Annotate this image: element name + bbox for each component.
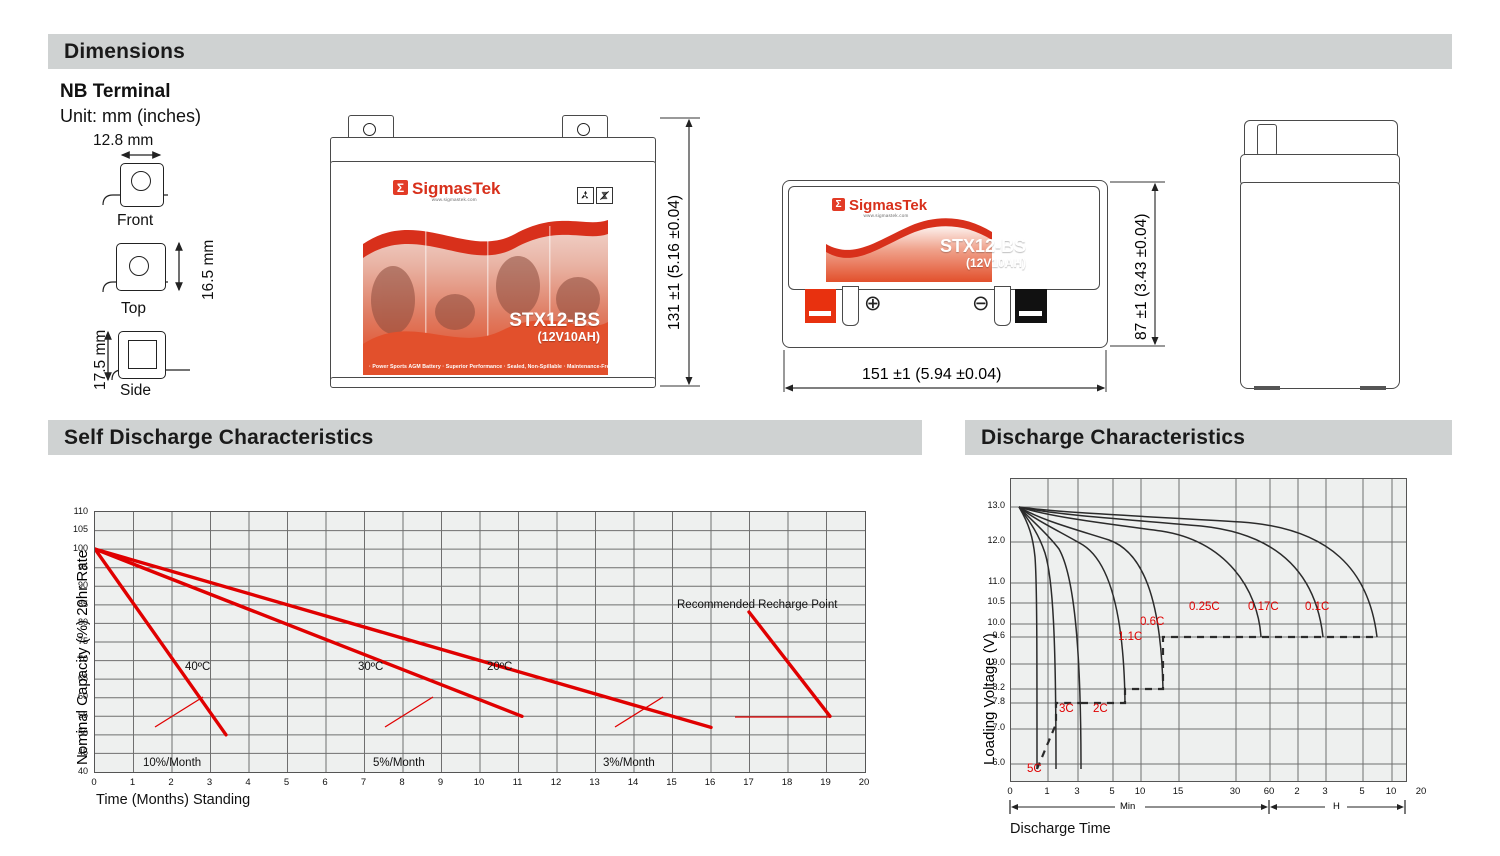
discharge-header-label: Discharge Characteristics [965,426,1245,450]
sd-xtick-19: 19 [816,777,836,788]
dc-xtick-15: 15 [1170,786,1186,797]
discharge-x-axis-title: Discharge Time [1010,821,1111,837]
dc-xtick-1: 1 [1039,786,1055,797]
dc-xtick-h2: 2 [1289,786,1305,797]
dc-ytick-6-0: 6.0 [965,757,1005,767]
profile-foot-right [1360,386,1386,390]
discharge-label-0-25c: 0.25C [1189,601,1220,613]
self-discharge-annotation-3pct: 3%/Month [603,757,655,769]
negative-polarity-icon: ⊖ [972,293,990,314]
recycle-glyph [580,190,591,201]
discharge-label-0-1c: 0.1C [1305,601,1329,613]
battery-model-front: STX12-BS [509,310,600,332]
self-discharge-header-label: Self Discharge Characteristics [48,426,373,450]
dc-ytick-10-5: 10.5 [965,596,1005,606]
sd-ytick-75: 75 [48,636,88,646]
dc-ytick-7-0: 7.0 [965,722,1005,732]
dc-ytick-9-6: 9.6 [965,630,1005,640]
sd-xtick-17: 17 [739,777,759,788]
dc-ytick-7-8: 7.8 [965,696,1005,706]
terminal-side-inner [128,340,157,369]
sd-xtick-15: 15 [662,777,682,788]
sd-ytick-95: 95 [48,562,88,572]
profile-foot-left [1254,386,1280,390]
sd-xtick-4: 4 [238,777,258,788]
sd-xtick-5: 5 [277,777,297,788]
battery-profile-view [1240,120,1400,395]
positive-post [842,286,859,326]
terminal-side-height-label: 17.5 mm [92,330,110,390]
positive-terminal-slot [809,311,831,316]
negative-post [994,286,1011,326]
sd-ytick-105: 105 [48,524,88,534]
sd-ytick-100: 100 [48,543,88,553]
brand-name: SigmasTek [412,180,501,197]
sd-xtick-11: 11 [508,777,528,788]
sd-ytick-65: 65 [48,673,88,683]
brand-logo: Σ SigmasTek www.sigmastek.com [393,180,501,202]
battery-lid-right-hole [577,123,590,136]
self-discharge-section-header: Self Discharge Characteristics [48,420,922,455]
discharge-label-0-6c: 0.6C [1140,616,1164,628]
sd-xtick-6: 6 [315,777,335,788]
unit-label: Unit: mm (inches) [60,106,201,127]
discharge-label-3c: 3C [1059,703,1074,715]
side-height-value: 87 ±1 (3.43 ±0.04) [1133,214,1151,340]
discharge-label-0-17c: 0.17C [1248,601,1279,613]
battery-front-view: Σ SigmasTek www.sigmastek.com [330,115,660,395]
sd-ytick-70: 70 [48,654,88,664]
sd-xtick-16: 16 [700,777,720,788]
recycle-icon [577,187,594,204]
discharge-svg [1011,479,1406,781]
recommended-recharge-point-label: Recommended Recharge Point [677,599,837,611]
discharge-chart: Loading Voltage (V) [965,470,1452,850]
terminal-front-label: Front [117,212,153,230]
discharge-section-header: Discharge Characteristics [965,420,1452,455]
sd-xtick-18: 18 [777,777,797,788]
battery-model-side: STX12-BS [940,236,1026,257]
dc-xtick-h10: 10 [1383,786,1399,797]
sd-xtick-12: 12 [546,777,566,788]
discharge-span-minutes-label: Min [1120,801,1135,812]
sd-xtick-9: 9 [431,777,451,788]
battery-front-label: Σ SigmasTek www.sigmastek.com [363,172,608,375]
terminal-top-hole [129,256,149,276]
side-sigma-logo-icon: Σ [832,198,845,211]
dc-xtick-h3: 3 [1317,786,1333,797]
self-discharge-annotation-30c: 30ºC [358,661,383,673]
battery-base [330,377,656,388]
dc-ytick-9-0: 9.0 [965,657,1005,667]
sd-xtick-3: 3 [200,777,220,788]
dc-xtick-3: 3 [1069,786,1085,797]
sd-ytick-50: 50 [48,728,88,738]
self-discharge-annotation-10pct: 10%/Month [143,757,201,769]
dc-xtick-5: 5 [1104,786,1120,797]
positive-terminal-pad [805,289,836,323]
terminal-top-label: Top [121,300,146,318]
terminal-side-label: Side [120,382,151,400]
dc-ytick-12-0: 12.0 [965,535,1005,545]
sd-xtick-20: 20 [854,777,874,788]
weee-glyph [599,190,610,201]
battery-tagline: · Power Sports AGM Battery · Superior Pe… [369,364,608,370]
nb-terminal-title: NB Terminal [60,81,171,103]
discharge-plot-area: 5C 3C 2C 1.1C 0.6C 0.25C 0.17C 0.1C [1010,478,1407,782]
side-brand-name: SigmasTek [849,198,927,213]
negative-terminal-pad [1015,289,1047,323]
self-discharge-annotation-5pct: 5%/Month [373,757,425,769]
dc-xtick-0: 0 [1002,786,1018,797]
dc-xtick-60: 60 [1261,786,1277,797]
sd-xtick-1: 1 [123,777,143,788]
dimensions-header-label: Dimensions [48,40,185,64]
sd-xtick-2: 2 [161,777,181,788]
sd-ytick-40: 40 [48,766,88,776]
sd-xtick-13: 13 [585,777,605,788]
sd-xtick-14: 14 [623,777,643,788]
sigma-logo-icon: Σ [393,180,408,195]
sd-ytick-80: 80 [48,617,88,627]
self-discharge-chart: Nominal Capacity (%) 20hr Rate [48,470,922,810]
dc-xtick-h20: 20 [1413,786,1429,797]
terminal-width-label: 12.8 mm [93,132,153,150]
profile-case [1240,182,1400,389]
sd-ytick-90: 90 [48,580,88,590]
dc-ytick-11-0: 11.0 [965,576,1005,586]
self-discharge-x-axis-title: Time (Months) Standing [96,792,250,808]
sd-xtick-10: 10 [469,777,489,788]
sd-xtick-8: 8 [392,777,412,788]
terminal-front-hole [131,171,151,191]
battery-lid-left-hole [363,123,376,136]
negative-terminal-slot [1019,311,1042,316]
positive-polarity-icon: ⊕ [864,293,882,314]
dc-xtick-30: 30 [1227,786,1243,797]
sd-ytick-55: 55 [48,710,88,720]
profile-vent-block [1257,124,1277,156]
sd-xtick-0: 0 [84,777,104,788]
self-discharge-annotation-20c: 20ºC [487,661,512,673]
battery-capacity-side: (12V10AH) [966,256,1026,270]
dc-xtick-10: 10 [1132,786,1148,797]
terminal-height-label: 16.5 mm [200,240,218,300]
discharge-label-5c: 5C [1027,763,1042,775]
dc-xtick-h5: 5 [1354,786,1370,797]
sd-ytick-60: 60 [48,691,88,701]
sd-ytick-85: 85 [48,599,88,609]
side-length-value: 151 ±1 (5.94 ±0.04) [862,366,1001,384]
battery-side-view: Σ SigmasTek www.sigmastek.com STX12-BS (… [782,180,1112,350]
self-discharge-svg [95,512,865,772]
self-discharge-plot-area: 40ºC 30ºC 20ºC 10%/Month 5%/Month 3%/Mon… [94,511,866,773]
dimensions-section-header: Dimensions [48,34,1452,69]
battery-capacity-front: (12V10AH) [537,330,600,344]
sd-xtick-7: 7 [354,777,374,788]
sd-ytick-45: 45 [48,747,88,757]
sd-ytick-110: 110 [48,506,88,516]
discharge-span-hours-label: H [1333,801,1340,812]
discharge-label-2c: 2C [1093,703,1108,715]
discharge-label-1-1c: 1.1C [1118,631,1142,643]
front-height-value: 131 ±1 (5.16 ±0.04) [666,195,684,330]
battery-side-label: Σ SigmasTek www.sigmastek.com STX12-BS (… [826,194,1036,282]
dc-ytick-13-0: 13.0 [965,500,1005,510]
dc-ytick-8-2: 8.2 [965,682,1005,692]
dc-ytick-10-0: 10.0 [965,617,1005,627]
self-discharge-annotation-40c: 40ºC [185,661,210,673]
weee-crossed-bin-icon [596,187,613,204]
